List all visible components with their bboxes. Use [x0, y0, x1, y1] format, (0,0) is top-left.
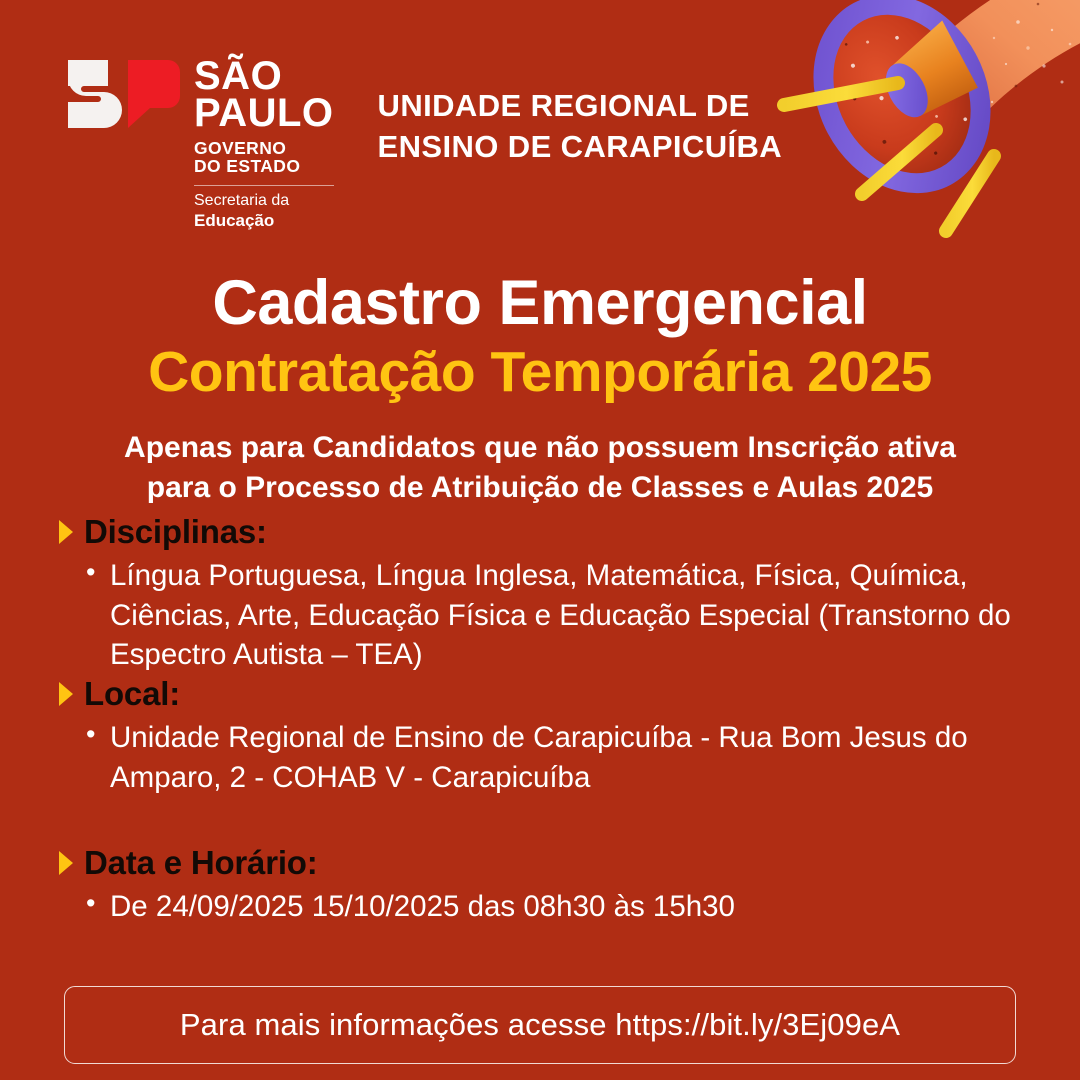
section-data-horario-header: Data e Horário: — [58, 845, 1068, 881]
arrow-right-icon — [58, 850, 74, 876]
poster-subtitle: Apenas para Candidatos que não possuem I… — [0, 428, 1080, 507]
cone-speckles — [965, 3, 1080, 108]
regional-unit-title: UNIDADE REGIONAL DE ENSINO DE CARAPICUÍB… — [378, 56, 783, 168]
megaphone-illustration — [770, 0, 1080, 266]
sao-paulo-logo: SÃO PAULO GOVERNO DO ESTADO Secretaria d… — [64, 56, 334, 230]
sound-wave-2 — [862, 130, 936, 194]
arrow-right-icon — [58, 681, 74, 707]
megaphone-cone — [920, 0, 1080, 136]
logo-divider — [194, 185, 334, 186]
section-local: Local: Unidade Regional de Ensino de Car… — [58, 676, 1068, 799]
section-data-horario-title: Data e Horário: — [84, 845, 318, 881]
section-local-title: Local: — [84, 676, 180, 712]
logo-p-speech-bubble-icon — [128, 56, 180, 132]
list-item: Unidade Regional de Ensino de Carapicuíb… — [58, 718, 1068, 796]
section-disciplinas-title: Disciplinas: — [84, 514, 267, 550]
headline-primary: Cadastro Emergencial — [0, 272, 1080, 335]
logo-title-sao: SÃO — [194, 58, 334, 95]
logo-s-icon — [64, 56, 122, 132]
poster-header: SÃO PAULO GOVERNO DO ESTADO Secretaria d… — [64, 56, 782, 230]
section-disciplinas: Disciplinas: Língua Portuguesa, Língua I… — [58, 514, 1068, 676]
logo-title-paulo: PAULO — [194, 95, 334, 132]
sp-logomark — [64, 56, 180, 132]
list-item: Língua Portuguesa, Língua Inglesa, Matem… — [58, 556, 1068, 674]
megaphone-bell — [807, 0, 998, 197]
more-info-box[interactable]: Para mais informações acesse https://bit… — [64, 986, 1016, 1064]
megaphone-icon — [770, 0, 1080, 266]
section-data-horario: Data e Horário: De 24/09/2025 15/10/2025… — [58, 845, 1068, 929]
logo-secretariat-line-1: Secretaria da — [194, 192, 334, 210]
headline-block: Cadastro Emergencial Contratação Temporá… — [0, 272, 1080, 401]
poster-canvas: SÃO PAULO GOVERNO DO ESTADO Secretaria d… — [0, 0, 1080, 1080]
megaphone-rim — [779, 0, 1024, 224]
sound-wave-lines — [784, 83, 994, 231]
list-item: De 24/09/2025 15/10/2025 das 08h30 às 15… — [58, 887, 1068, 926]
headline-secondary: Contratação Temporária 2025 — [0, 343, 1080, 401]
megaphone-cap — [877, 56, 936, 124]
sp-logo-wordmark: SÃO PAULO GOVERNO DO ESTADO Secretaria d… — [194, 56, 334, 230]
megaphone-inner-tube — [886, 21, 978, 118]
section-disciplinas-list: Língua Portuguesa, Língua Inglesa, Matem… — [58, 556, 1068, 674]
logo-gov-line-1: GOVERNO — [194, 139, 334, 158]
logo-gov-line-2: DO ESTADO — [194, 157, 334, 176]
section-data-horario-list: De 24/09/2025 15/10/2025 das 08h30 às 15… — [58, 887, 1068, 926]
more-info-text[interactable]: Para mais informações acesse https://bit… — [180, 1008, 900, 1042]
arrow-right-icon — [58, 519, 74, 545]
section-local-list: Unidade Regional de Ensino de Carapicuíb… — [58, 718, 1068, 796]
section-local-header: Local: — [58, 676, 1068, 712]
sound-wave-3 — [946, 156, 994, 231]
section-disciplinas-header: Disciplinas: — [58, 514, 1068, 550]
sound-wave-1 — [784, 83, 898, 105]
logo-secretariat-line-2: Educação — [194, 211, 334, 231]
